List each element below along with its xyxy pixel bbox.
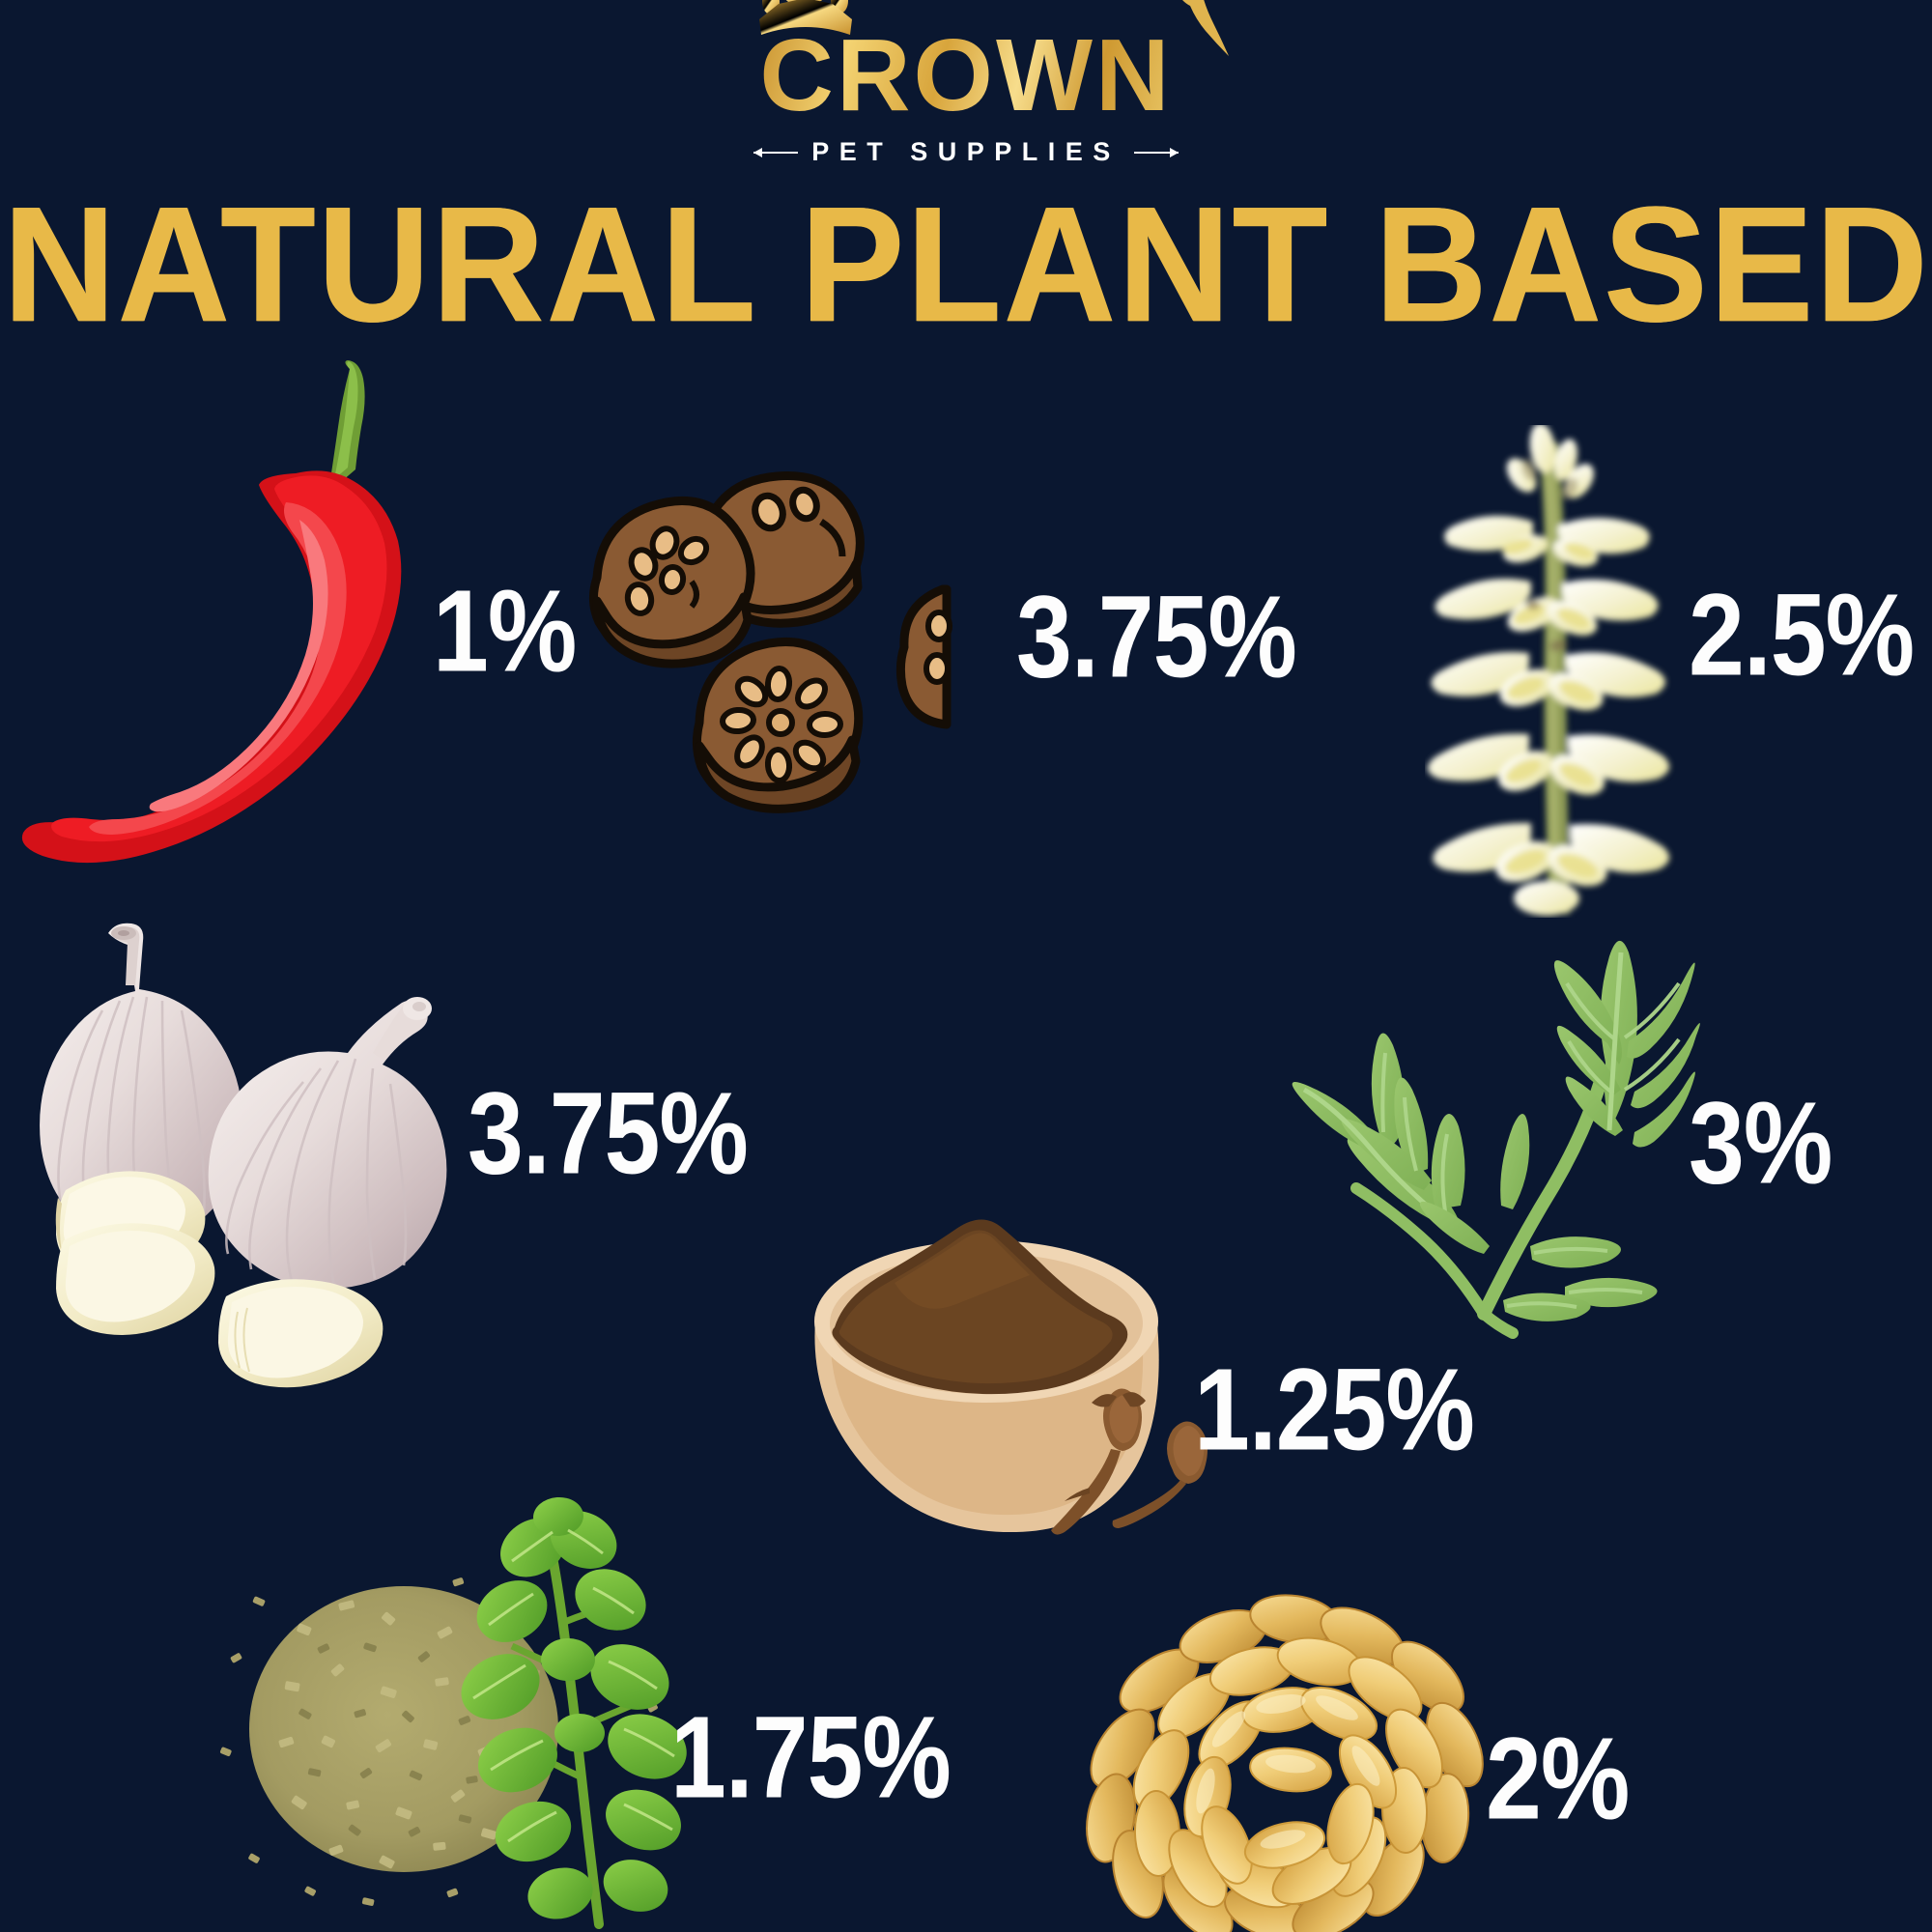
nutmeg-slices-image [580,464,947,811]
percent-mugwort: 3% [1689,1086,1832,1203]
percent-pumpkin-seeds: 2% [1486,1721,1629,1838]
percent-oregano: 1.75% [670,1700,951,1817]
logo-wordmark: CROWN [755,8,1176,124]
mugwort-leaves-image [1275,927,1729,1333]
logo-tagline: PET SUPPLIES [811,137,1121,167]
crown-paw-icon [750,0,866,43]
logo-tagline-row: PET SUPPLIES [753,137,1179,167]
arrow-right-icon [1134,147,1179,158]
page-title: NATURAL PLANT BASED [0,184,1932,346]
percent-chili-pepper: 1% [433,574,576,691]
percent-licorice-flower: 2.5% [1689,578,1914,695]
arrow-left-icon [753,147,798,158]
licorice-flower-image [1425,425,1676,918]
garlic-image [19,908,464,1362]
bird-icon [1150,0,1233,79]
chili-pepper-image [10,357,425,869]
percent-nutmeg: 3.75% [1016,580,1296,696]
percent-garlic: 3.75% [468,1076,748,1193]
percent-clove-powder: 1.25% [1194,1352,1474,1469]
